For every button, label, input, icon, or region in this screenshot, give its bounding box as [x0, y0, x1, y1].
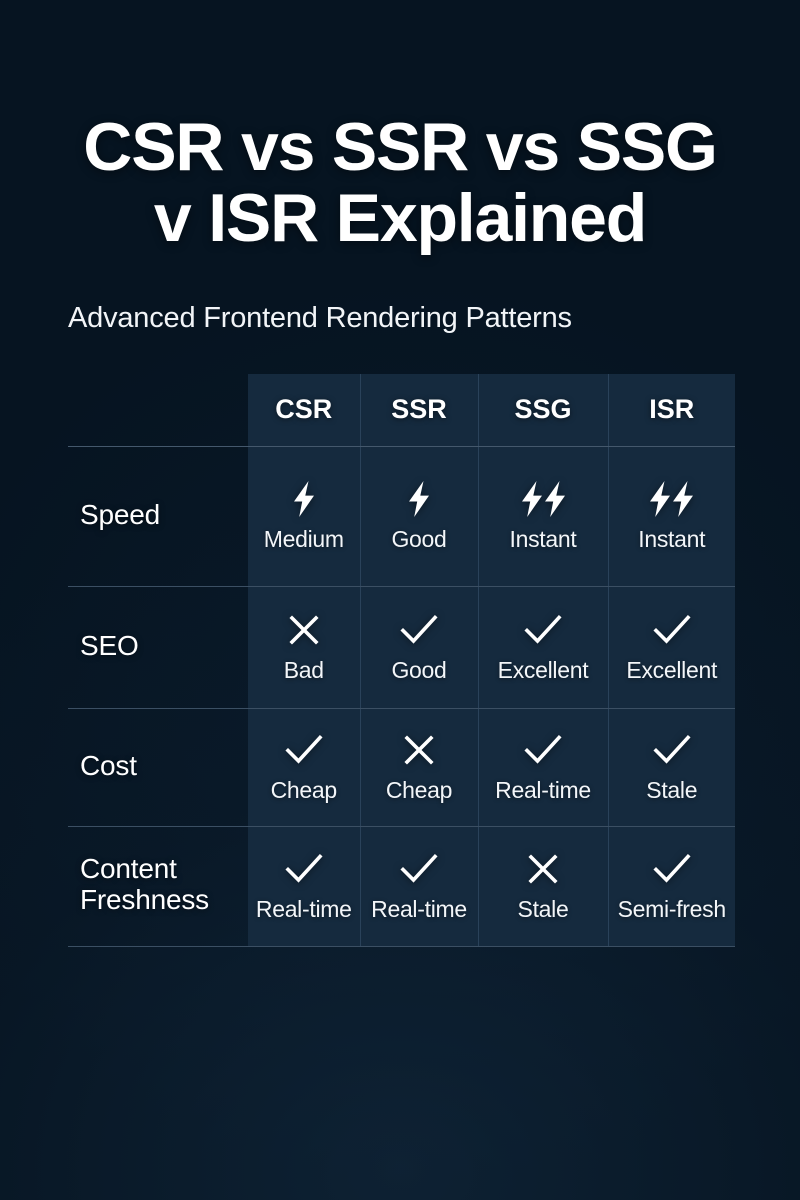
cell-content: Stale: [611, 730, 734, 802]
check-icon: [285, 730, 323, 770]
table-header-row: CSR SSR SSG ISR: [68, 374, 735, 446]
cell-content: Instant: [481, 479, 606, 551]
column-header-ssg: SSG: [478, 374, 608, 446]
bolt-single-icon: [291, 479, 317, 519]
table-row: CostCheapCheapReal-timeStale: [68, 708, 735, 826]
check-icon: [285, 849, 323, 889]
cell-value-text: Real-time: [495, 778, 591, 802]
cell-content: Semi-fresh: [611, 849, 734, 921]
cell-speed-isr: Instant: [608, 446, 735, 586]
cell-content: Medium: [250, 479, 358, 551]
table-row: SpeedMediumGoodInstantInstant: [68, 446, 735, 586]
cell-value-text: Cheap: [386, 778, 452, 802]
check-icon: [653, 730, 691, 770]
comparison-table-wrapper: CSR SSR SSG ISR SpeedMediumGoodInstantIn…: [68, 374, 732, 947]
cell-value-text: Medium: [264, 527, 344, 551]
cell-seo-csr: Bad: [248, 586, 360, 708]
infographic-page: CSR vs SSR vs SSG v ISR Explained Advanc…: [0, 112, 800, 1200]
cell-content: Bad: [250, 610, 358, 682]
cell-value-text: Excellent: [498, 658, 589, 682]
cell-cost-csr: Cheap: [248, 708, 360, 826]
cross-icon: [288, 610, 320, 650]
cell-content: Excellent: [611, 610, 734, 682]
cell-cost-ssr: Cheap: [360, 708, 478, 826]
check-icon: [653, 610, 691, 650]
cell-value-text: Semi-fresh: [618, 897, 726, 921]
cell-value-text: Cheap: [271, 778, 337, 802]
check-icon: [524, 610, 562, 650]
cell-value-text: Real-time: [256, 897, 352, 921]
row-label-content-freshness: Content Freshness: [68, 826, 248, 946]
column-header-csr: CSR: [248, 374, 360, 446]
cell-content-freshness-ssr: Real-time: [360, 826, 478, 946]
cell-content: Real-time: [250, 849, 358, 921]
cell-value-text: Excellent: [626, 658, 717, 682]
cell-value-text: Instant: [638, 527, 705, 551]
cell-seo-isr: Excellent: [608, 586, 735, 708]
table-row: Content FreshnessReal-timeReal-timeStale…: [68, 826, 735, 946]
row-label-seo: SEO: [68, 586, 248, 708]
check-icon: [400, 849, 438, 889]
cell-value-text: Good: [391, 658, 446, 682]
row-label-cost: Cost: [68, 708, 248, 826]
column-header-rowlabel: [68, 374, 248, 446]
cell-value-text: Instant: [510, 527, 577, 551]
cell-seo-ssr: Good: [360, 586, 478, 708]
column-header-ssr: SSR: [360, 374, 478, 446]
row-label-speed: Speed: [68, 446, 248, 586]
cell-content: Real-time: [363, 849, 476, 921]
cell-cost-isr: Stale: [608, 708, 735, 826]
cell-speed-ssr: Good: [360, 446, 478, 586]
cell-content: Good: [363, 479, 476, 551]
bolt-double-icon: [647, 479, 696, 519]
bolt-single-icon: [406, 479, 432, 519]
cell-value-text: Stale: [646, 778, 697, 802]
cell-content-freshness-csr: Real-time: [248, 826, 360, 946]
cell-value-text: Good: [391, 527, 446, 551]
table-head: CSR SSR SSG ISR: [68, 374, 735, 446]
table-body: SpeedMediumGoodInstantInstantSEOBadGoodE…: [68, 446, 735, 946]
cross-icon: [527, 849, 559, 889]
cell-content: Instant: [611, 479, 734, 551]
cell-content: Good: [363, 610, 476, 682]
cell-speed-ssg: Instant: [478, 446, 608, 586]
cell-content: Excellent: [481, 610, 606, 682]
cell-value-text: Stale: [518, 897, 569, 921]
cell-content: Cheap: [250, 730, 358, 802]
cell-speed-csr: Medium: [248, 446, 360, 586]
check-icon: [653, 849, 691, 889]
cell-value-text: Bad: [284, 658, 324, 682]
page-title: CSR vs SSR vs SSG v ISR Explained: [68, 112, 732, 253]
cell-content-freshness-ssg: Stale: [478, 826, 608, 946]
table-row: SEOBadGoodExcellentExcellent: [68, 586, 735, 708]
cell-content: Cheap: [363, 730, 476, 802]
check-icon: [400, 610, 438, 650]
check-icon: [524, 730, 562, 770]
page-subtitle: Advanced Frontend Rendering Patterns: [68, 301, 732, 336]
bolt-double-icon: [519, 479, 568, 519]
cell-content: Stale: [481, 849, 606, 921]
cell-seo-ssg: Excellent: [478, 586, 608, 708]
cell-cost-ssg: Real-time: [478, 708, 608, 826]
cell-value-text: Real-time: [371, 897, 467, 921]
column-header-isr: ISR: [608, 374, 735, 446]
cell-content: Real-time: [481, 730, 606, 802]
cross-icon: [403, 730, 435, 770]
cell-content-freshness-isr: Semi-fresh: [608, 826, 735, 946]
comparison-table: CSR SSR SSG ISR SpeedMediumGoodInstantIn…: [68, 374, 735, 947]
